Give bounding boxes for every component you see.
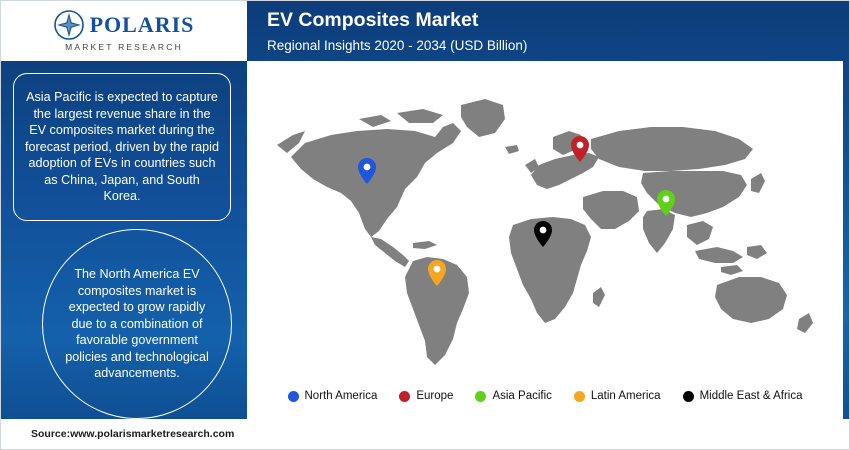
map-pin-asia-pacific[interactable] [657,190,675,216]
legend-label: Europe [416,390,453,402]
brand-logo: POLARIS MARKET RESEARCH [1,1,247,61]
header: EV Composites Market Regional Insights 2… [247,1,850,61]
legend-item-europe[interactable]: Europe [399,390,453,402]
legend-label: Asia Pacific [492,390,551,402]
map-legend: North America Europe Asia Pacific Latin … [247,379,843,413]
source-text: Source:www.polarismarketresearch.com [1,428,234,440]
map-pin-middle-east-africa[interactable] [534,221,552,247]
legend-label: Latin America [591,390,661,402]
map-panel: North America Europe Asia Pacific Latin … [247,61,843,421]
page-subtitle: Regional Insights 2020 - 2034 (USD Billi… [267,38,850,53]
legend-dot-icon [288,391,299,402]
world-map [247,61,843,376]
legend-item-asia-pacific[interactable]: Asia Pacific [475,390,551,402]
map-pin-latin-america[interactable] [428,260,446,286]
brand-name: POLARIS [90,12,195,38]
legend-dot-icon [475,391,486,402]
brand-tagline: MARKET RESEARCH [65,42,183,52]
north-america-callout: The North America EV composites market i… [42,229,232,419]
north-america-callout-text: The North America EV composites market i… [57,266,217,382]
world-map-svg [247,61,843,376]
legend-dot-icon [399,391,410,402]
infographic-root: POLARIS MARKET RESEARCH Asia Pacific is … [0,0,850,450]
legend-dot-icon [574,391,585,402]
polaris-star-icon [54,10,84,40]
legend-dot-icon [683,391,694,402]
legend-label: Middle East & Africa [700,390,803,402]
legend-item-middle-east-africa[interactable]: Middle East & Africa [683,390,803,402]
page-title: EV Composites Market [267,9,850,32]
legend-label: North America [305,390,378,402]
legend-item-north-america[interactable]: North America [288,390,378,402]
left-panel: POLARIS MARKET RESEARCH Asia Pacific is … [1,1,247,450]
map-pin-north-america[interactable] [358,158,376,184]
map-pin-europe[interactable] [571,136,589,162]
asia-pacific-callout-text: Asia Pacific is expected to capture the … [24,89,220,205]
footer: Source:www.polarismarketresearch.com [1,419,850,449]
asia-pacific-callout: Asia Pacific is expected to capture the … [13,73,231,221]
legend-item-latin-america[interactable]: Latin America [574,390,661,402]
